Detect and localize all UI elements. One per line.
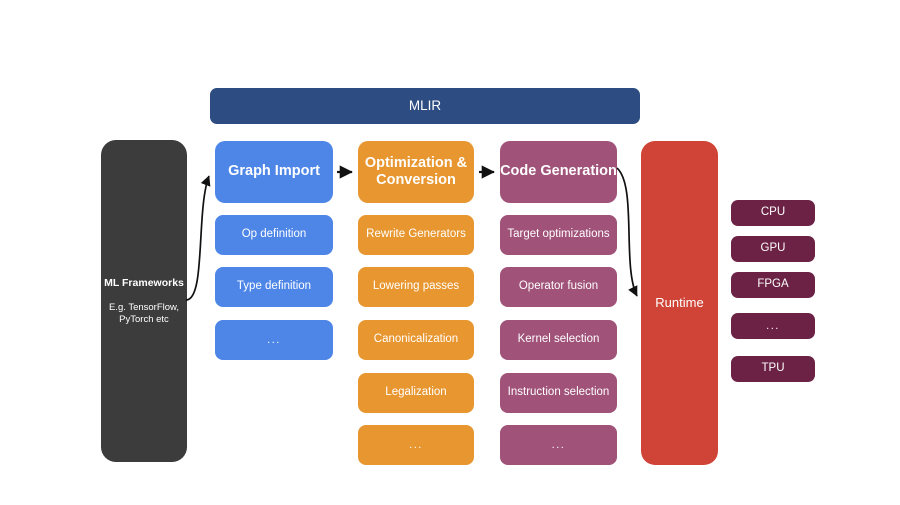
list-item: Operator fusion bbox=[500, 267, 617, 307]
item-label: ... bbox=[409, 439, 423, 452]
diagram-canvas: MLIR ML Frameworks E.g. TensorFlow, PyTo… bbox=[0, 0, 900, 505]
list-item: ... bbox=[358, 425, 474, 465]
item-label: Operator fusion bbox=[519, 280, 598, 294]
runtime-box: Runtime bbox=[641, 141, 718, 465]
item-label: Op definition bbox=[242, 228, 307, 242]
list-item: Legalization bbox=[358, 373, 474, 413]
arrow-code-generation-to-runtime bbox=[617, 168, 637, 296]
list-item: Lowering passes bbox=[358, 267, 474, 307]
hardware-target-more: ... bbox=[731, 313, 815, 339]
list-item: Kernel selection bbox=[500, 320, 617, 360]
runtime-label: Runtime bbox=[655, 295, 703, 310]
hardware-target-cpu: CPU bbox=[731, 200, 815, 226]
hardware-target-gpu: GPU bbox=[731, 236, 815, 262]
hardware-target-label: TPU bbox=[762, 362, 785, 376]
item-label: Kernel selection bbox=[518, 333, 600, 347]
item-label: ... bbox=[267, 334, 281, 347]
list-item: Canonicalization bbox=[358, 320, 474, 360]
hardware-target-fpga: FPGA bbox=[731, 272, 815, 298]
ml-frameworks-subtitle: E.g. TensorFlow, PyTorch etc bbox=[101, 302, 187, 326]
item-label: Target optimizations bbox=[507, 228, 609, 242]
arrow-frameworks-to-graph-import bbox=[186, 176, 209, 300]
item-label: Lowering passes bbox=[373, 280, 459, 294]
ml-frameworks-title: ML Frameworks bbox=[104, 277, 184, 290]
hardware-target-tpu: TPU bbox=[731, 356, 815, 382]
hardware-target-label: ... bbox=[766, 320, 780, 333]
list-item: Instruction selection bbox=[500, 373, 617, 413]
mlir-label: MLIR bbox=[409, 98, 441, 114]
column-header-graph-import: Graph Import bbox=[215, 141, 333, 203]
list-item: Rewrite Generators bbox=[358, 215, 474, 255]
hardware-target-label: GPU bbox=[761, 242, 786, 256]
column-header-label: Graph Import bbox=[228, 163, 320, 180]
ml-frameworks-box: ML Frameworks E.g. TensorFlow, PyTorch e… bbox=[101, 140, 187, 462]
list-item: ... bbox=[215, 320, 333, 360]
hardware-target-label: CPU bbox=[761, 206, 785, 220]
list-item: ... bbox=[500, 425, 617, 465]
list-item: Type definition bbox=[215, 267, 333, 307]
item-label: Instruction selection bbox=[508, 386, 610, 400]
column-header-code-generation: Code Generation bbox=[500, 141, 617, 203]
list-item: Op definition bbox=[215, 215, 333, 255]
mlir-header-bar: MLIR bbox=[210, 88, 640, 124]
item-label: Type definition bbox=[237, 280, 311, 294]
item-label: Legalization bbox=[385, 386, 446, 400]
column-header-label: Optimization & Conversion bbox=[358, 155, 474, 189]
list-item: Target optimizations bbox=[500, 215, 617, 255]
item-label: ... bbox=[552, 439, 566, 452]
column-header-label: Code Generation bbox=[500, 163, 617, 180]
column-header-optimization-conversion: Optimization & Conversion bbox=[358, 141, 474, 203]
hardware-target-label: FPGA bbox=[757, 278, 788, 292]
item-label: Rewrite Generators bbox=[366, 228, 466, 242]
item-label: Canonicalization bbox=[374, 333, 458, 347]
